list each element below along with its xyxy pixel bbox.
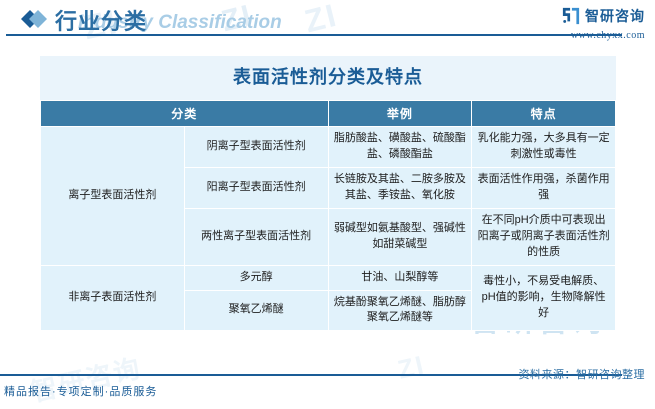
cell-feature-cationic: 表面活性作用强，杀菌作用强 [472, 167, 616, 208]
column-header-feature: 特点 [472, 101, 616, 127]
brand-block: 智研咨询 www.chyxx.com [562, 6, 645, 41]
cell-feature-nonionic: 毒性小，不易受电解质、pH值的影响，生物降解性好 [472, 265, 616, 331]
footer-source: 资料来源：智研咨询整理 [519, 366, 646, 382]
cell-feature-anionic: 乳化能力强，大多具有一定刺激性或毒性 [472, 127, 616, 168]
cell-example-polyol: 甘油、山梨醇等 [328, 265, 472, 290]
cell-example-cationic: 长链胺及其盐、二胺多胺及其盐、季铵盐、氧化胺 [328, 167, 472, 208]
table-card: 表面活性剂分类及特点 分类 举例 特点 离子型表面活性剂 阴离子型表面活性剂 脂… [40, 56, 616, 331]
diamond-icon [21, 10, 47, 28]
cell-category-ionic: 离子型表面活性剂 [41, 127, 185, 266]
column-header-category: 分类 [41, 101, 329, 127]
table-title: 表面活性剂分类及特点 [40, 56, 616, 100]
table-header-row: 分类 举例 特点 [41, 101, 616, 127]
watermark-bottom-left: 智研咨询 [27, 348, 144, 409]
cell-subtype-cationic: 阳离子型表面活性剂 [184, 167, 328, 208]
footer-slogan: 精品报告·专项定制·品质服务 [4, 383, 157, 399]
table-row: 离子型表面活性剂 阴离子型表面活性剂 脂肪酸盐、磺酸盐、硫酸酯盐、磷酸酯盐 乳化… [41, 127, 616, 168]
cell-subtype-anionic: 阴离子型表面活性剂 [184, 127, 328, 168]
zhiyan-logo-icon [562, 7, 580, 25]
cell-feature-amphoteric: 在不同pH介质中可表现出阳离子或阴离子表面活性剂的性质 [472, 208, 616, 265]
cell-subtype-amphoteric: 两性离子型表面活性剂 [184, 208, 328, 265]
cell-subtype-polyol: 多元醇 [184, 265, 328, 290]
cell-category-nonionic: 非离子表面活性剂 [41, 265, 185, 331]
page-title: 行业分类 [55, 4, 147, 36]
watermark-bottom-mid: ZI [395, 349, 428, 385]
page-header: Industry Classification 行业分类 [0, 0, 655, 46]
surfactant-table: 分类 举例 特点 离子型表面活性剂 阴离子型表面活性剂 脂肪酸盐、磺酸盐、硫酸酯… [40, 100, 616, 331]
header-divider [6, 34, 622, 36]
cell-example-amphoteric: 弱碱型如氨基酸型、强碱性如甜菜碱型 [328, 208, 472, 265]
brand-name: 智研咨询 [585, 6, 645, 26]
cell-subtype-polyoxyethylene-ether: 聚氧乙烯醚 [184, 290, 328, 331]
table-row: 非离子表面活性剂 多元醇 甘油、山梨醇等 毒性小，不易受电解质、pH值的影响，生… [41, 265, 616, 290]
brand-url: www.chyxx.com [562, 30, 645, 41]
cell-example-polyoxyethylene-ether: 烷基酚聚氧乙烯醚、脂肪醇聚氧乙烯醚等 [328, 290, 472, 331]
column-header-example: 举例 [328, 101, 472, 127]
cell-example-anionic: 脂肪酸盐、磺酸盐、硫酸酯盐、磷酸酯盐 [328, 127, 472, 168]
